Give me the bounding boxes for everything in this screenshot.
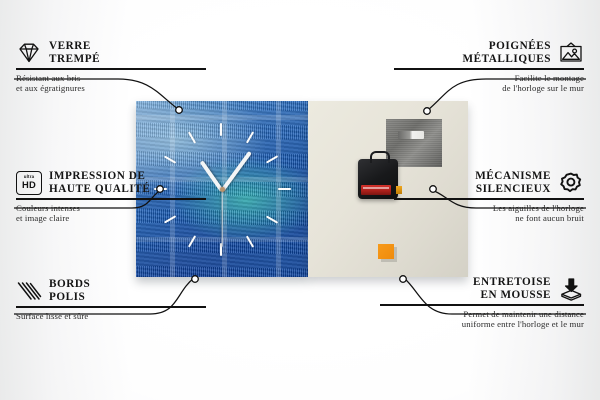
- callout-poignees-metalliques[interactable]: POIGNÉES MÉTALLIQUES Facilite le montage…: [394, 40, 584, 93]
- callout-verre-trempe[interactable]: VERRE TREMPÉ Résistant aux bris et aux é…: [16, 40, 206, 93]
- infographic-canvas: VERRE TREMPÉ Résistant aux bris et aux é…: [0, 0, 600, 400]
- gear-icon: [558, 171, 584, 195]
- callout-desc-line: de l'horloge sur le mur: [394, 83, 584, 93]
- ultra-hd-icon: ultra HD: [16, 171, 42, 195]
- callout-desc-line: Surface lisse et sûre: [16, 311, 206, 321]
- callout-entretoise-en-mousse[interactable]: ENTRETOISE EN MOUSSE Permet de maintenir…: [380, 276, 584, 329]
- callout-divider: [16, 198, 206, 199]
- callout-divider: [394, 68, 584, 69]
- callout-desc-line: et image claire: [16, 213, 206, 223]
- callout-desc-line: Facilite le montage: [394, 73, 584, 83]
- diamond-icon: [16, 41, 42, 65]
- callout-title: IMPRESSION DE HAUTE QUALITÉ: [49, 170, 150, 195]
- callout-desc-line: ne font aucun bruit: [394, 213, 584, 223]
- callout-desc-line: uniforme entre l'horloge et le mur: [380, 319, 584, 329]
- callout-header: BORDS POLIS: [16, 278, 206, 303]
- callout-desc-line: Résistant aux bris: [16, 73, 206, 83]
- callout-title: ENTRETOISE EN MOUSSE: [473, 276, 551, 301]
- callout-title: BORDS POLIS: [49, 278, 90, 303]
- callout-divider: [16, 306, 206, 307]
- connector-endpoint: [176, 107, 183, 114]
- callout-header: POIGNÉES MÉTALLIQUES: [394, 40, 584, 65]
- callout-divider: [16, 68, 206, 69]
- callout-desc-line: Les aiguilles de l'horloge: [394, 203, 584, 213]
- polished-edge-icon: [16, 279, 42, 303]
- callout-desc-line: Permet de maintenir une distance: [380, 309, 584, 319]
- foam-spacer-icon: [558, 277, 584, 301]
- callout-desc-line: Couleurs intenses: [16, 203, 206, 213]
- callout-desc-line: et aux égratignures: [16, 83, 206, 93]
- callout-title: POIGNÉES MÉTALLIQUES: [462, 40, 551, 65]
- picture-frame-icon: [558, 41, 584, 65]
- callout-mecanisme-silencieux[interactable]: MÉCANISME SILENCIEUX Les aiguilles de l'…: [394, 170, 584, 223]
- callout-title: MÉCANISME SILENCIEUX: [475, 170, 551, 195]
- callout-divider: [380, 304, 584, 305]
- callout-header: ultra HD IMPRESSION DE HAUTE QUALITÉ: [16, 170, 206, 195]
- callout-bords-polis[interactable]: BORDS POLIS Surface lisse et sûre: [16, 278, 206, 321]
- connector-endpoint: [424, 108, 431, 115]
- callout-header: VERRE TREMPÉ: [16, 40, 206, 65]
- callout-impression-haute-qualite[interactable]: ultra HD IMPRESSION DE HAUTE QUALITÉ Cou…: [16, 170, 206, 223]
- callout-title: VERRE TREMPÉ: [49, 40, 100, 65]
- callout-header: ENTRETOISE EN MOUSSE: [380, 276, 584, 301]
- callout-divider: [394, 198, 584, 199]
- callout-header: MÉCANISME SILENCIEUX: [394, 170, 584, 195]
